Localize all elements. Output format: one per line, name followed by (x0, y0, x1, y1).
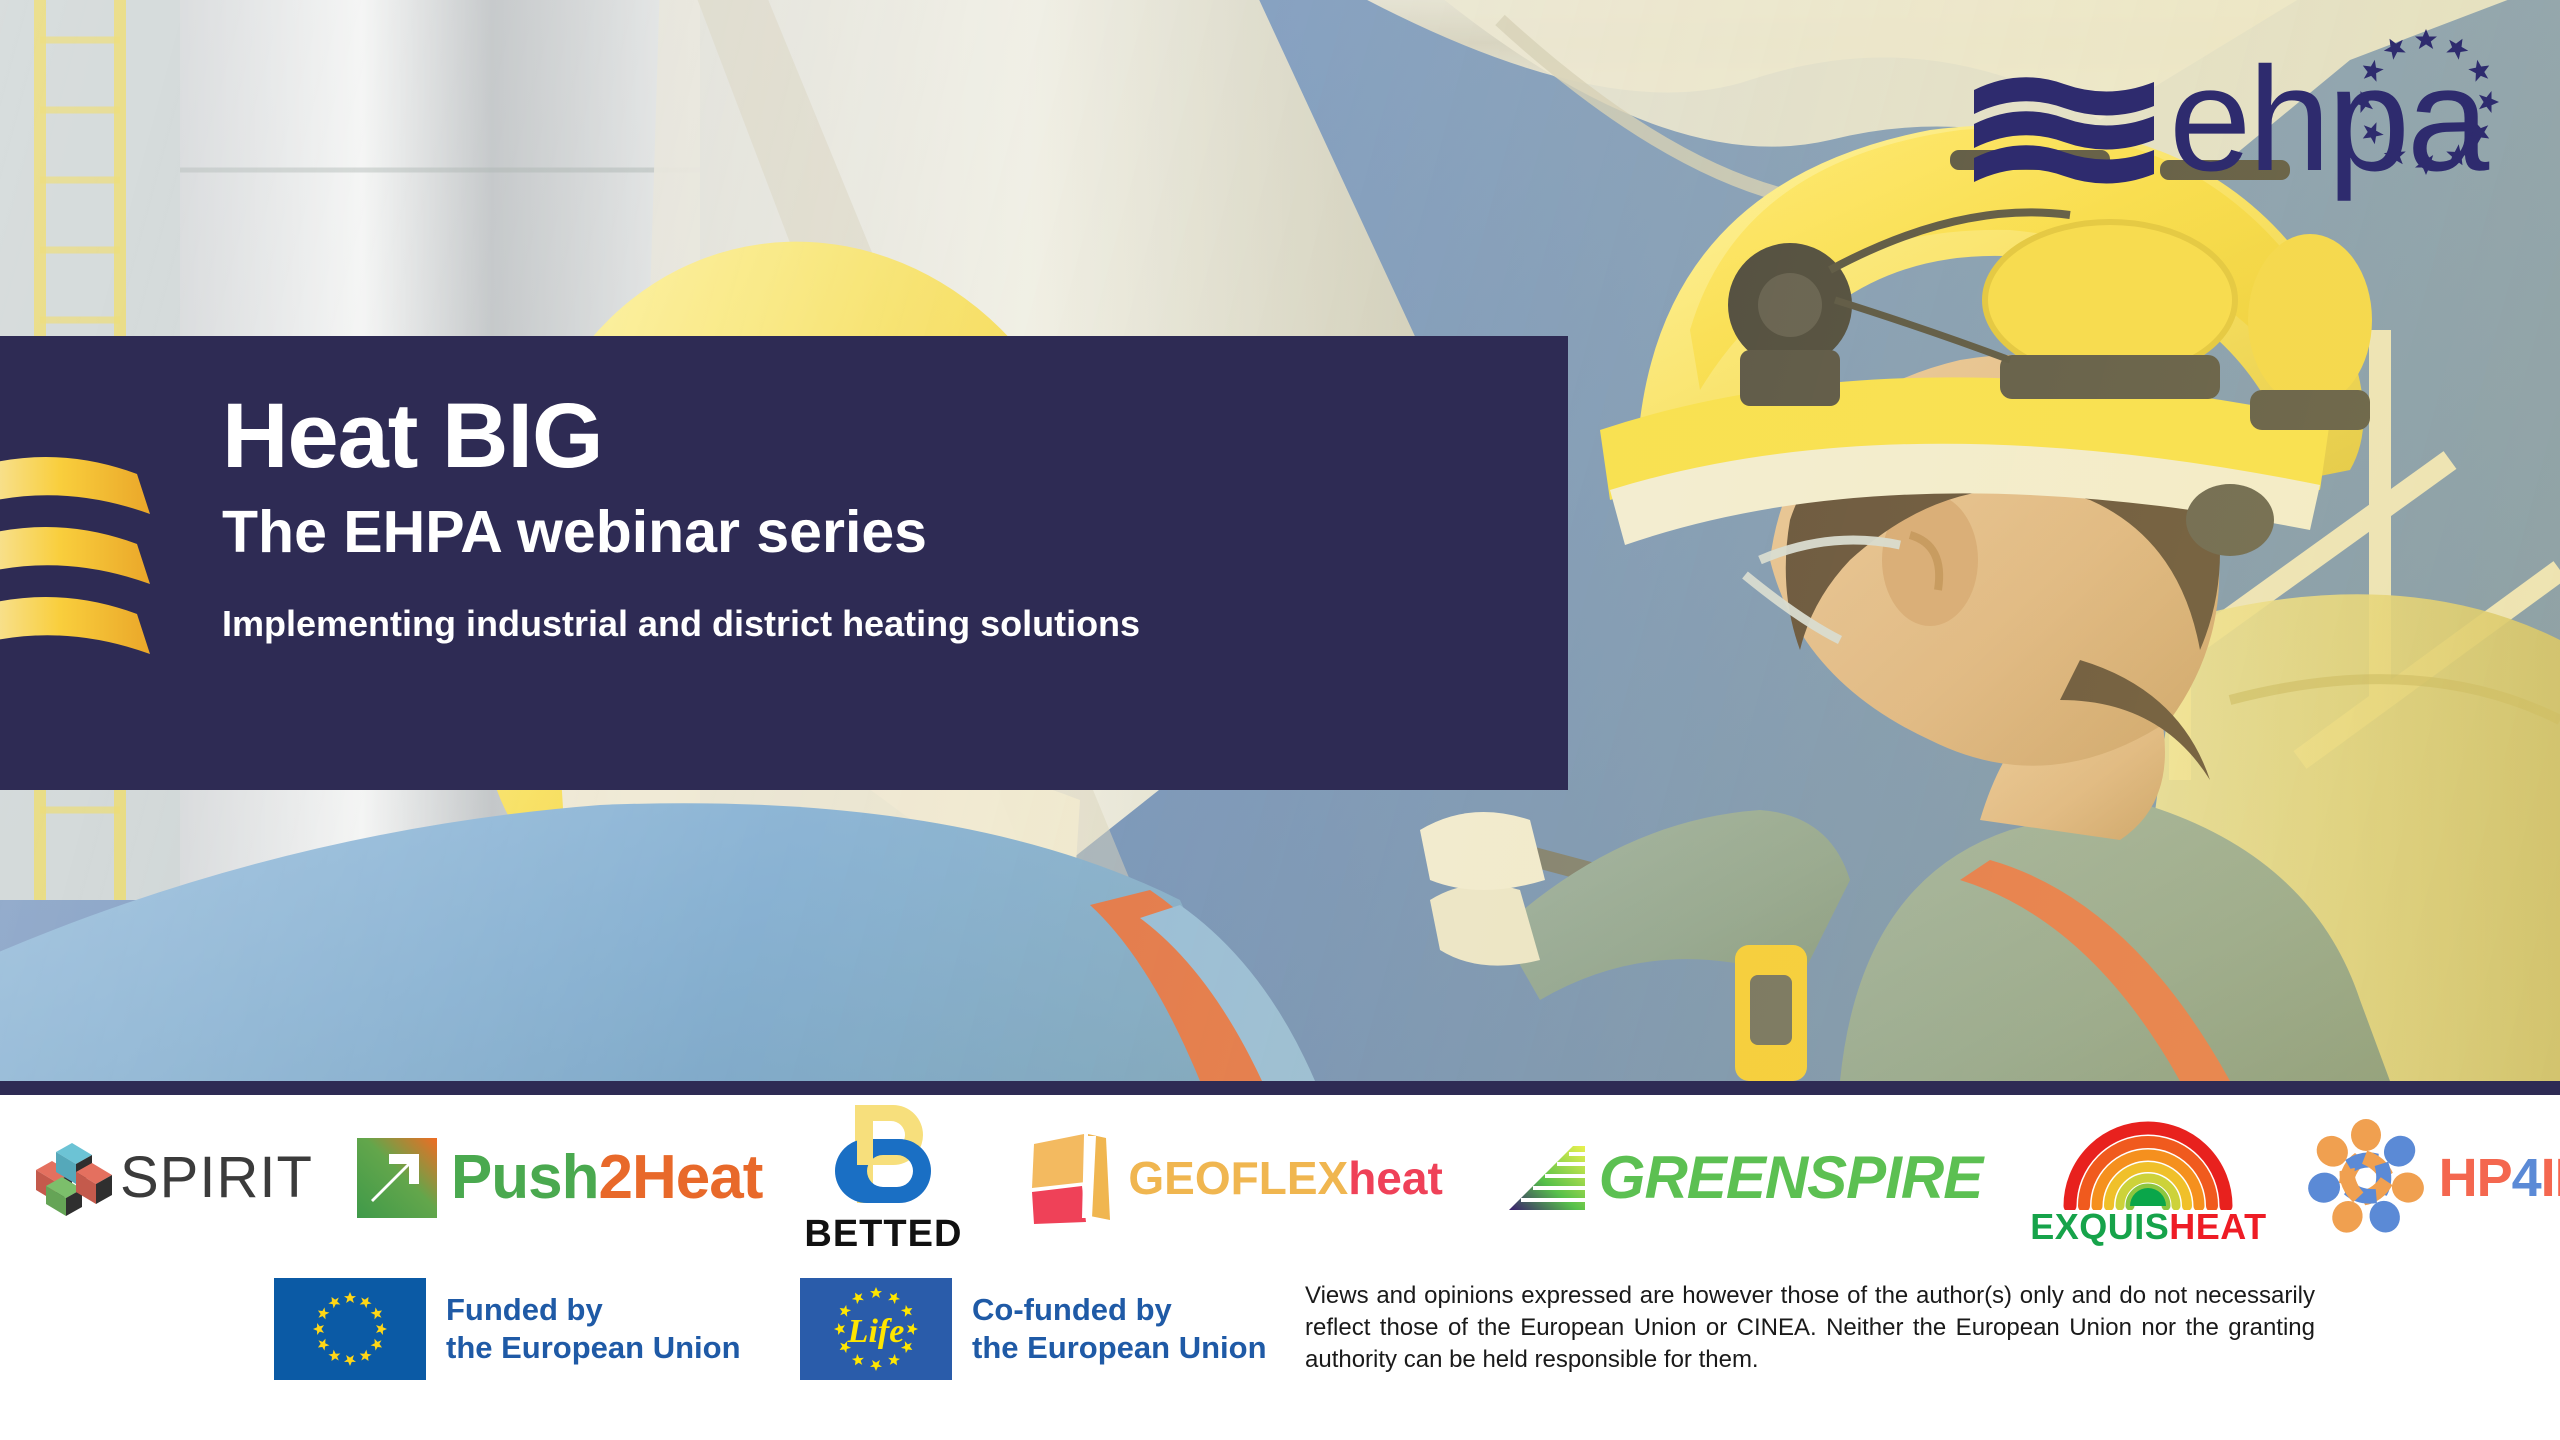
partner-logo-betted[interactable]: BETTED (804, 1099, 962, 1256)
hp4industry-people-circle-icon (2301, 1113, 2431, 1243)
eu-funded-line1: Funded by (446, 1291, 741, 1329)
geoflexheat-label-part2: heat (1348, 1152, 1443, 1204)
eu-life-flag-icon: Life (800, 1278, 952, 1380)
exquisheat-rainbow-icon (2048, 1108, 2248, 1210)
partner-logo-hp4industry[interactable]: HP4INDUSTRY (2301, 1113, 2560, 1243)
eu-flag-icon (274, 1278, 426, 1380)
eu-funding-row: Funded by the European Union (0, 1260, 2560, 1440)
eu-funded-badge: Funded by the European Union (274, 1278, 741, 1380)
eu-cofunded-label: Co-funded by the European Union (972, 1291, 1267, 1367)
heatbig-wave-mark-icon (0, 452, 182, 670)
eu-cofunded-life-badge: Life Co-funded by the European Union (800, 1278, 1267, 1380)
eu-disclaimer-text: Views and opinions expressed are however… (1305, 1280, 2315, 1376)
push2heat-label: Push2Heat (451, 1142, 762, 1213)
page-subtitle: The EHPA webinar series (222, 502, 1522, 564)
push2heat-arrow-icon (353, 1134, 441, 1222)
eu-cofunded-line2: the European Union (972, 1329, 1267, 1367)
ehpa-logo: ehpa (1964, 24, 2524, 209)
webinar-banner: ehpa (0, 0, 2560, 1440)
partner-logo-push2heat[interactable]: Push2Heat (353, 1134, 762, 1222)
eu-funded-line2: the European Union (446, 1329, 741, 1367)
eu-cofunded-line1: Co-funded by (972, 1291, 1267, 1329)
partner-logo-spirit[interactable]: SPIRIT (22, 1132, 313, 1224)
push2heat-label-part2: 2 (599, 1143, 632, 1212)
geoflexheat-label: GEOFLEXheat (1128, 1151, 1442, 1205)
footer: SPIRIT Push2Heat (0, 1095, 2560, 1440)
spirit-blocks-icon (22, 1132, 114, 1224)
page-tagline: Implementing industrial and district hea… (222, 602, 1522, 645)
geoflexheat-mark-icon (1024, 1130, 1116, 1226)
betted-label: BETTED (804, 1213, 962, 1256)
partner-logo-geoflexheat[interactable]: GEOFLEXheat (1024, 1130, 1442, 1226)
partner-logo-exquisheat[interactable]: EXQUISHEAT (2030, 1108, 2266, 1248)
hp4industry-label: HP4INDUSTRY (2439, 1147, 2560, 1209)
greenspire-label: GREENSPIRE (1599, 1143, 1982, 1212)
hp4industry-label-part2: 4 (2512, 1148, 2541, 1208)
section-divider (0, 1081, 2560, 1095)
eu-funded-label: Funded by the European Union (446, 1291, 741, 1367)
hero-text-block: Heat BIG The EHPA webinar series Impleme… (222, 390, 1522, 645)
push2heat-label-part1: Push (451, 1143, 599, 1212)
ehpa-wordmark: ehpa (2169, 37, 2490, 202)
exquisheat-label-part2: HEAT (2169, 1206, 2266, 1247)
hp4industry-label-part3: INDUSTRY (2541, 1148, 2560, 1208)
push2heat-label-part3: Heat (632, 1143, 762, 1212)
exquisheat-label: EXQUISHEAT (2030, 1206, 2266, 1248)
hp4industry-label-part1: HP (2439, 1148, 2512, 1208)
betted-b-icon (831, 1099, 935, 1211)
exquisheat-label-part1: EXQUIS (2030, 1206, 2169, 1247)
geoflexheat-label-part1: GEOFLEX (1128, 1152, 1348, 1204)
page-title: Heat BIG (222, 390, 1522, 482)
spirit-label: SPIRIT (120, 1144, 313, 1211)
ehpa-wave-icon (1974, 77, 2154, 183)
partner-logo-greenspire[interactable]: GREENSPIRE (1505, 1138, 1982, 1218)
greenspire-steps-icon (1505, 1138, 1591, 1218)
ehpa-logo-svg: ehpa (1964, 24, 2524, 209)
life-script-text: Life (847, 1313, 905, 1350)
partner-logo-row: SPIRIT Push2Heat (0, 1095, 2560, 1260)
